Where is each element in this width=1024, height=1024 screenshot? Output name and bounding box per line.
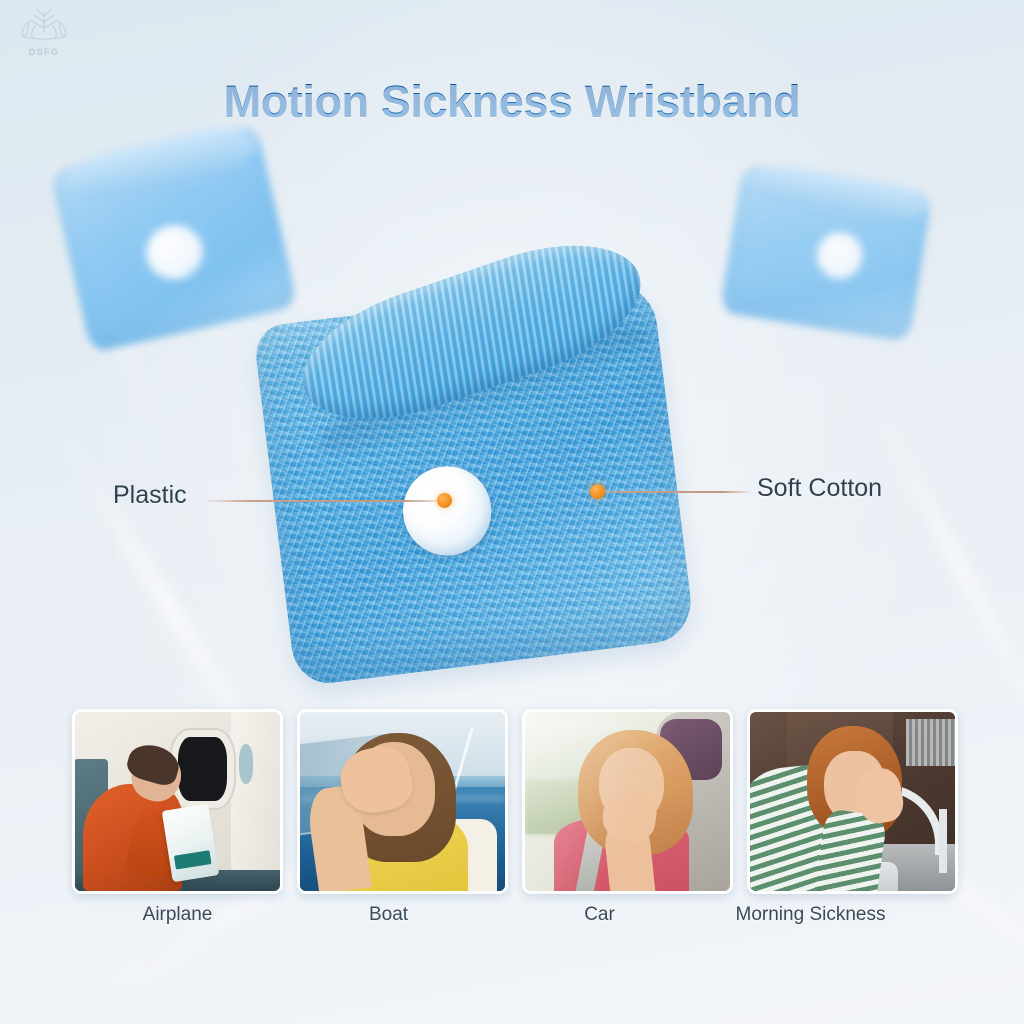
use-case-thumbnail-car: [522, 709, 733, 894]
caption-morning-sickness: Morning Sickness: [705, 904, 916, 938]
faucet-stem: [939, 809, 947, 873]
scene-car: [525, 712, 730, 891]
callout-label-soft-cotton: Soft Cotton: [757, 474, 882, 503]
scene-boat: [300, 712, 505, 891]
callout-leader-line: [598, 491, 750, 493]
caption-car: Car: [494, 904, 705, 938]
use-case-thumbnail-morning-sickness: [747, 709, 958, 894]
wristband-hero: [249, 255, 696, 695]
callout-label-plastic: Plastic: [113, 481, 187, 510]
dish-rack: [906, 719, 955, 766]
window-glare: [525, 712, 730, 891]
watermark-text: DSFG: [8, 47, 80, 57]
background-crease: [861, 387, 1024, 746]
callout-dot: [590, 484, 605, 499]
scene-airplane: [75, 712, 280, 891]
page-title: Motion Sickness Wristband: [0, 76, 1024, 128]
cabin-panel: [231, 712, 280, 891]
sick-bag: [162, 804, 220, 882]
wristband-blurred-right: [719, 164, 932, 342]
scene-morning-sickness: [750, 712, 955, 891]
use-case-captions: Airplane Boat Car Morning Sickness: [72, 904, 958, 938]
air-vent: [239, 744, 253, 783]
use-case-thumbnail-airplane: [72, 709, 283, 894]
callout-leader-line: [208, 500, 445, 502]
callout-dot: [437, 493, 452, 508]
watermark: DSFG: [8, 6, 80, 62]
use-case-thumbnail-boat: [297, 709, 508, 894]
product-infographic: DSFG Motion Sickness Wristband Plastic S…: [0, 0, 1024, 1024]
caption-boat: Boat: [283, 904, 494, 938]
airplane-window: [178, 737, 227, 801]
use-case-thumbnail-strip: [72, 709, 958, 894]
crest-emblem-icon: [8, 6, 80, 46]
caption-airplane: Airplane: [72, 904, 283, 938]
